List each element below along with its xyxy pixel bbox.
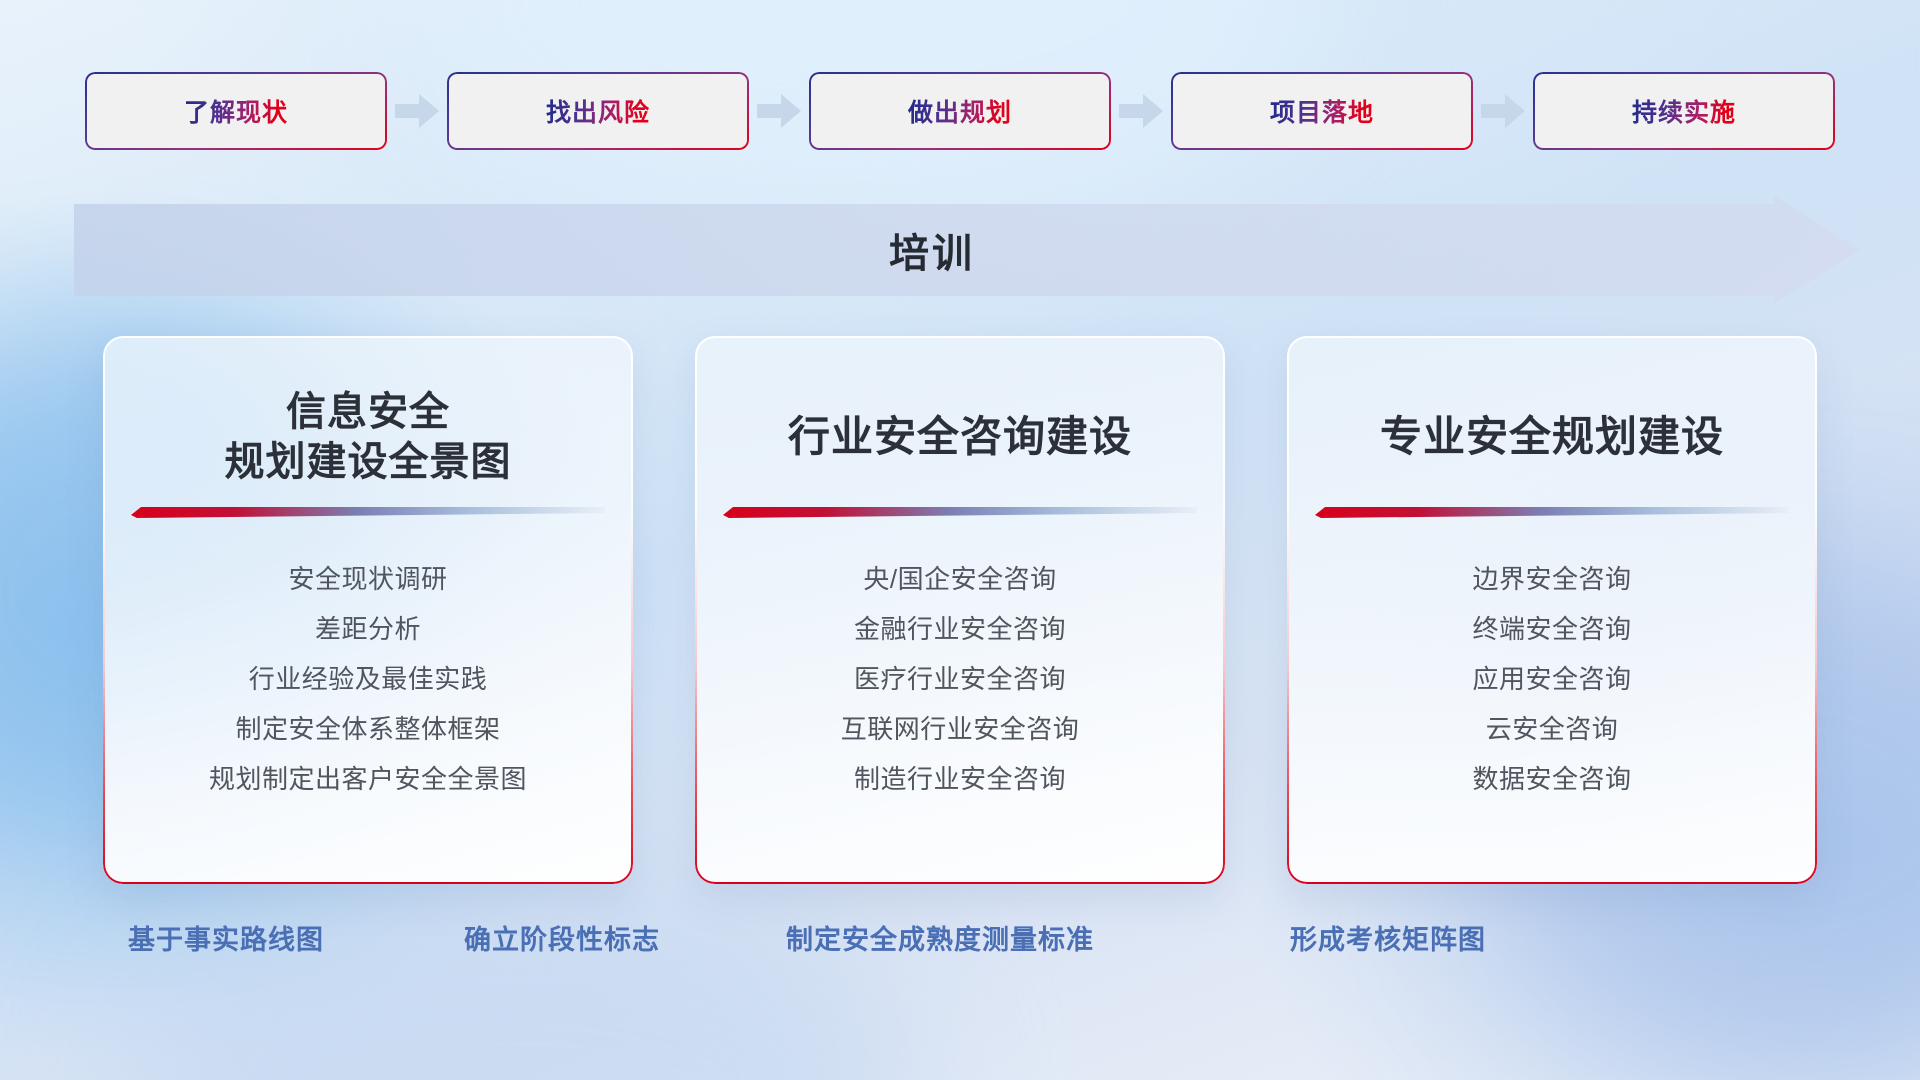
training-banner-label: 培训: [74, 196, 1860, 304]
process-step-2[interactable]: 找出风险: [447, 72, 749, 150]
list-item: 规划制定出客户安全全景图: [131, 754, 605, 804]
process-step-5-label: 持续实施: [1632, 93, 1736, 129]
card-industry-security-consulting[interactable]: 行业安全咨询建设: [695, 336, 1225, 884]
card-info-security-blueprint[interactable]: 信息安全 规划建设全景图: [103, 336, 633, 884]
process-step-row: 了解现状 找出风险 做出规划 项目落地 持续实施: [0, 72, 1920, 150]
step-arrow-icon-2: [749, 72, 809, 150]
card-1-divider: [131, 504, 605, 534]
card-row: 信息安全 规划建设全景图: [0, 336, 1920, 884]
list-item: 终端安全咨询: [1315, 604, 1789, 654]
list-item: 应用安全咨询: [1315, 654, 1789, 704]
card-3-title: 专业安全规划建设: [1315, 382, 1789, 492]
card-1-title-line-1: 信息安全: [225, 387, 512, 437]
list-item: 金融行业安全咨询: [723, 604, 1197, 654]
process-step-4-label: 项目落地: [1270, 93, 1374, 129]
step-arrow-icon-4: [1473, 72, 1533, 150]
background-blob-bottom: [120, 880, 920, 1080]
caption-milestones: 确立阶段性标志: [464, 918, 660, 957]
card-1-title: 信息安全 规划建设全景图: [131, 382, 605, 492]
card-3-list: 边界安全咨询 终端安全咨询 应用安全咨询 云安全咨询 数据安全咨询: [1315, 540, 1789, 804]
card-2-divider: [723, 504, 1197, 534]
list-item: 医疗行业安全咨询: [723, 654, 1197, 704]
step-arrow-icon-3: [1111, 72, 1171, 150]
card-2-title: 行业安全咨询建设: [723, 382, 1197, 492]
divider-gradient-line: [131, 504, 605, 522]
divider-gradient-line: [1315, 504, 1789, 522]
process-step-3[interactable]: 做出规划: [809, 72, 1111, 150]
list-item: 边界安全咨询: [1315, 554, 1789, 604]
card-2-title-line-1: 行业安全咨询建设: [788, 411, 1132, 464]
list-item: 互联网行业安全咨询: [723, 704, 1197, 754]
card-1-title-line-2: 规划建设全景图: [225, 437, 512, 487]
process-step-3-label: 做出规划: [908, 93, 1012, 129]
list-item: 差距分析: [131, 604, 605, 654]
caption-row: 基于事实路线图 确立阶段性标志 制定安全成熟度测量标准 形成考核矩阵图: [0, 918, 1920, 966]
card-1-list: 安全现状调研 差距分析 行业经验及最佳实践 制定安全体系整体框架 规划制定出客户…: [131, 540, 605, 804]
list-item: 安全现状调研: [131, 554, 605, 604]
card-3-divider: [1315, 504, 1789, 534]
caption-kpi-matrix: 形成考核矩阵图: [1290, 918, 1486, 957]
list-item: 行业经验及最佳实践: [131, 654, 605, 704]
process-step-2-label: 找出风险: [546, 93, 650, 129]
process-step-5[interactable]: 持续实施: [1533, 72, 1835, 150]
card-2-list: 央/国企安全咨询 金融行业安全咨询 医疗行业安全咨询 互联网行业安全咨询 制造行…: [723, 540, 1197, 804]
card-professional-security-planning[interactable]: 专业安全规划建设: [1287, 336, 1817, 884]
list-item: 云安全咨询: [1315, 704, 1789, 754]
process-step-1-label: 了解现状: [184, 93, 288, 129]
list-item: 央/国企安全咨询: [723, 554, 1197, 604]
step-arrow-icon-1: [387, 72, 447, 150]
caption-maturity-scale: 制定安全成熟度测量标准: [786, 918, 1094, 957]
divider-gradient-line: [723, 504, 1197, 522]
caption-roadmap: 基于事实路线图: [128, 918, 324, 957]
list-item: 数据安全咨询: [1315, 754, 1789, 804]
training-banner: 培训: [74, 196, 1860, 304]
list-item: 制造行业安全咨询: [723, 754, 1197, 804]
process-step-4[interactable]: 项目落地: [1171, 72, 1473, 150]
process-step-1[interactable]: 了解现状: [85, 72, 387, 150]
card-3-title-line-1: 专业安全规划建设: [1380, 411, 1724, 464]
list-item: 制定安全体系整体框架: [131, 704, 605, 754]
